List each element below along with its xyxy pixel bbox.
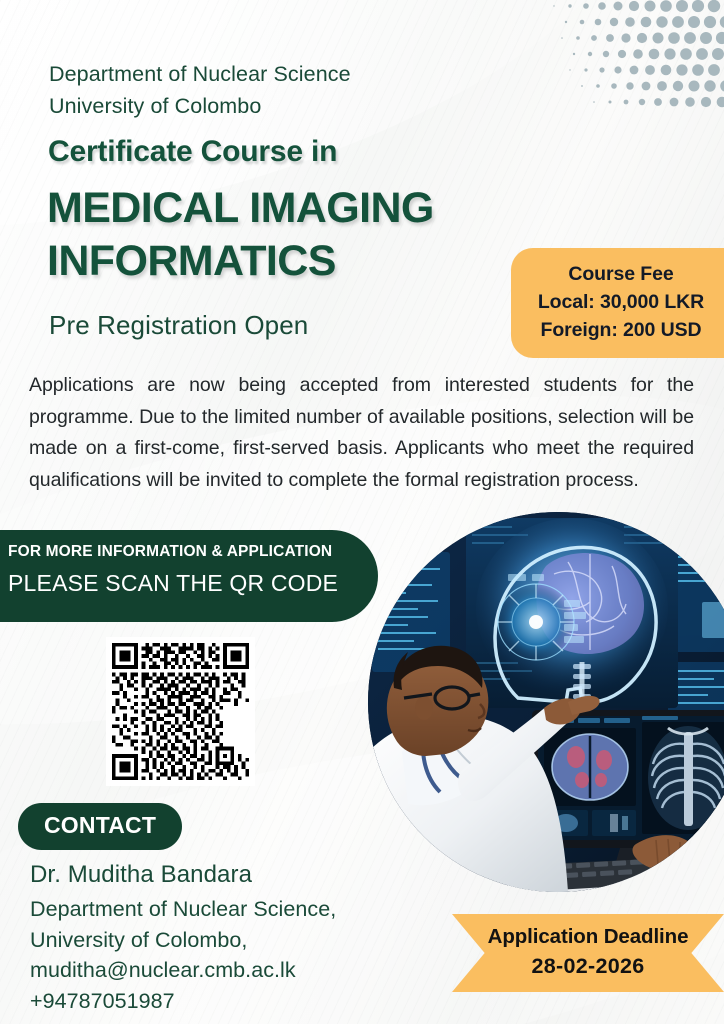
application-deadline-ribbon: Application Deadline 28-02-2026	[452, 914, 724, 992]
title-line-2: INFORMATICS	[47, 235, 434, 288]
course-eyebrow: Certificate Course in	[48, 135, 337, 169]
course-subtitle: Pre Registration Open	[49, 310, 308, 341]
contact-university: University of Colombo,	[30, 925, 336, 956]
page-title: MEDICAL IMAGING INFORMATICS	[47, 182, 434, 288]
fee-local: Local: 30,000 LKR	[511, 288, 724, 316]
contact-details: Department of Nuclear Science, Universit…	[30, 894, 336, 1016]
fee-foreign: Foreign: 200 USD	[511, 316, 724, 344]
fee-heading: Course Fee	[511, 260, 724, 288]
deadline-label: Application Deadline	[452, 925, 724, 949]
title-line-1: MEDICAL IMAGING	[47, 182, 434, 235]
qr-code[interactable]	[106, 637, 255, 786]
contact-person-name: Dr. Muditha Bandara	[30, 861, 252, 889]
contact-email[interactable]: muditha@nuclear.cmb.ac.lk	[30, 955, 336, 986]
poster-canvas: Department of Nuclear Science University…	[0, 0, 724, 1024]
course-fee-badge: Course Fee Local: 30,000 LKR Foreign: 20…	[511, 248, 724, 358]
deadline-date: 28-02-2026	[452, 954, 724, 979]
radiologist-photo	[368, 512, 724, 892]
qr-instruction-banner: FOR MORE INFORMATION & APPLICATION PLEAS…	[0, 530, 378, 622]
description-paragraph: Applications are now being accepted from…	[29, 370, 694, 496]
qr-banner-line-2: PLEASE SCAN THE QR CODE	[8, 570, 378, 597]
department-heading: Department of Nuclear Science University…	[49, 58, 351, 122]
contact-department: Department of Nuclear Science,	[30, 894, 336, 925]
halftone-dots-decoration	[550, 0, 724, 112]
contact-phone[interactable]: +94787051987	[30, 986, 336, 1017]
contact-badge: CONTACT	[18, 803, 182, 850]
qr-banner-line-1: FOR MORE INFORMATION & APPLICATION	[8, 543, 378, 561]
